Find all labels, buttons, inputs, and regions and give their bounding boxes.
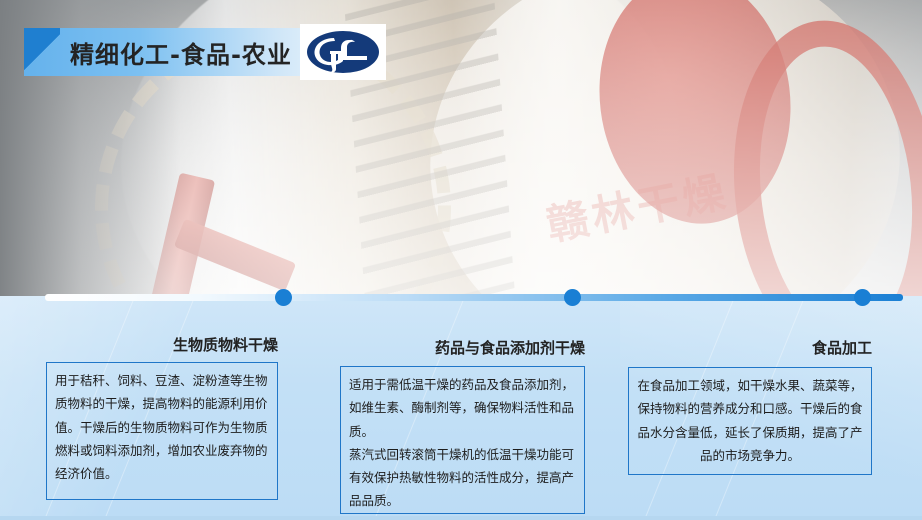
- page-title: 精细化工-食品-农业: [70, 35, 292, 70]
- timeline-dot-1[interactable]: [275, 289, 292, 306]
- column-2-heading: 药品与食品添加剂干燥: [435, 337, 585, 358]
- column-1-heading: 生物质物料干燥: [173, 334, 278, 355]
- timeline-dot-3[interactable]: [854, 289, 871, 306]
- banner-corner-triangle: [24, 28, 60, 76]
- timeline-bar: [45, 294, 903, 301]
- column-1-box: 用于秸秆、饲料、豆渣、淀粉渣等生物质物料的干燥，提高物料的能源利用价值。干燥后的…: [46, 362, 278, 500]
- column-2-body: 适用于需低温干燥的药品及食品添加剂，如维生素、酶制剂等，确保物料活性和品质。蒸汽…: [349, 373, 576, 513]
- slide-root: 赣林干燥 精细化工-食品-农业 生物质物料干燥 用于秸秆、饲料、豆渣、淀粉渣等生…: [0, 0, 922, 520]
- column-3-body: 在食品加工领域，如干燥水果、蔬菜等，保持物料的营养成分和口感。干燥后的食品水分含…: [637, 374, 863, 467]
- column-3-heading: 食品加工: [812, 337, 872, 358]
- bottom-edge-bar: [0, 516, 922, 520]
- column-2-box: 适用于需低温干燥的药品及食品添加剂，如维生素、酶制剂等，确保物料活性和品质。蒸汽…: [340, 366, 585, 514]
- column-3-box: 在食品加工领域，如干燥水果、蔬菜等，保持物料的营养成分和口感。干燥后的食品水分含…: [628, 367, 872, 475]
- gl-company-logo: [300, 24, 386, 80]
- column-1-body: 用于秸秆、饲料、豆渣、淀粉渣等生物质物料的干燥，提高物料的能源利用价值。干燥后的…: [55, 369, 269, 485]
- timeline-dot-2[interactable]: [564, 289, 581, 306]
